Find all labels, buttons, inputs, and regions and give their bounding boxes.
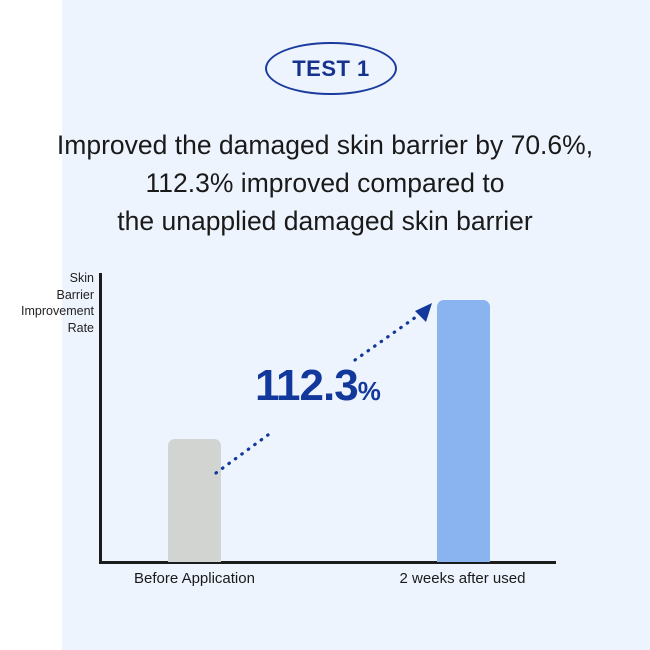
x-tick-label-before-application: Before Application [62,570,327,587]
y-axis-label-line-2: Barrier [0,287,94,304]
y-axis-label-line-3: Improvement [0,303,94,320]
x-tick-label-two-weeks-after-used: 2 weeks after used [330,570,595,587]
growth-arrow-icon [0,0,650,650]
y-axis-label: Skin Barrier Improvement Rate [0,270,94,336]
improvement-callout-unit: % [358,376,381,406]
bar-two-weeks-after-used [437,300,490,562]
improvement-callout-value: 112.3 [255,361,358,410]
improvement-callout: 112.3% [255,364,381,408]
y-axis-label-line-4: Rate [0,320,94,337]
bar-before-application [168,439,221,562]
y-axis-line [99,273,102,564]
y-axis-label-line-1: Skin [0,270,94,287]
infographic-page: TEST 1 Improved the damaged skin barrier… [0,0,650,650]
bar-chart: Skin Barrier Improvement Rate Before App… [0,0,650,650]
